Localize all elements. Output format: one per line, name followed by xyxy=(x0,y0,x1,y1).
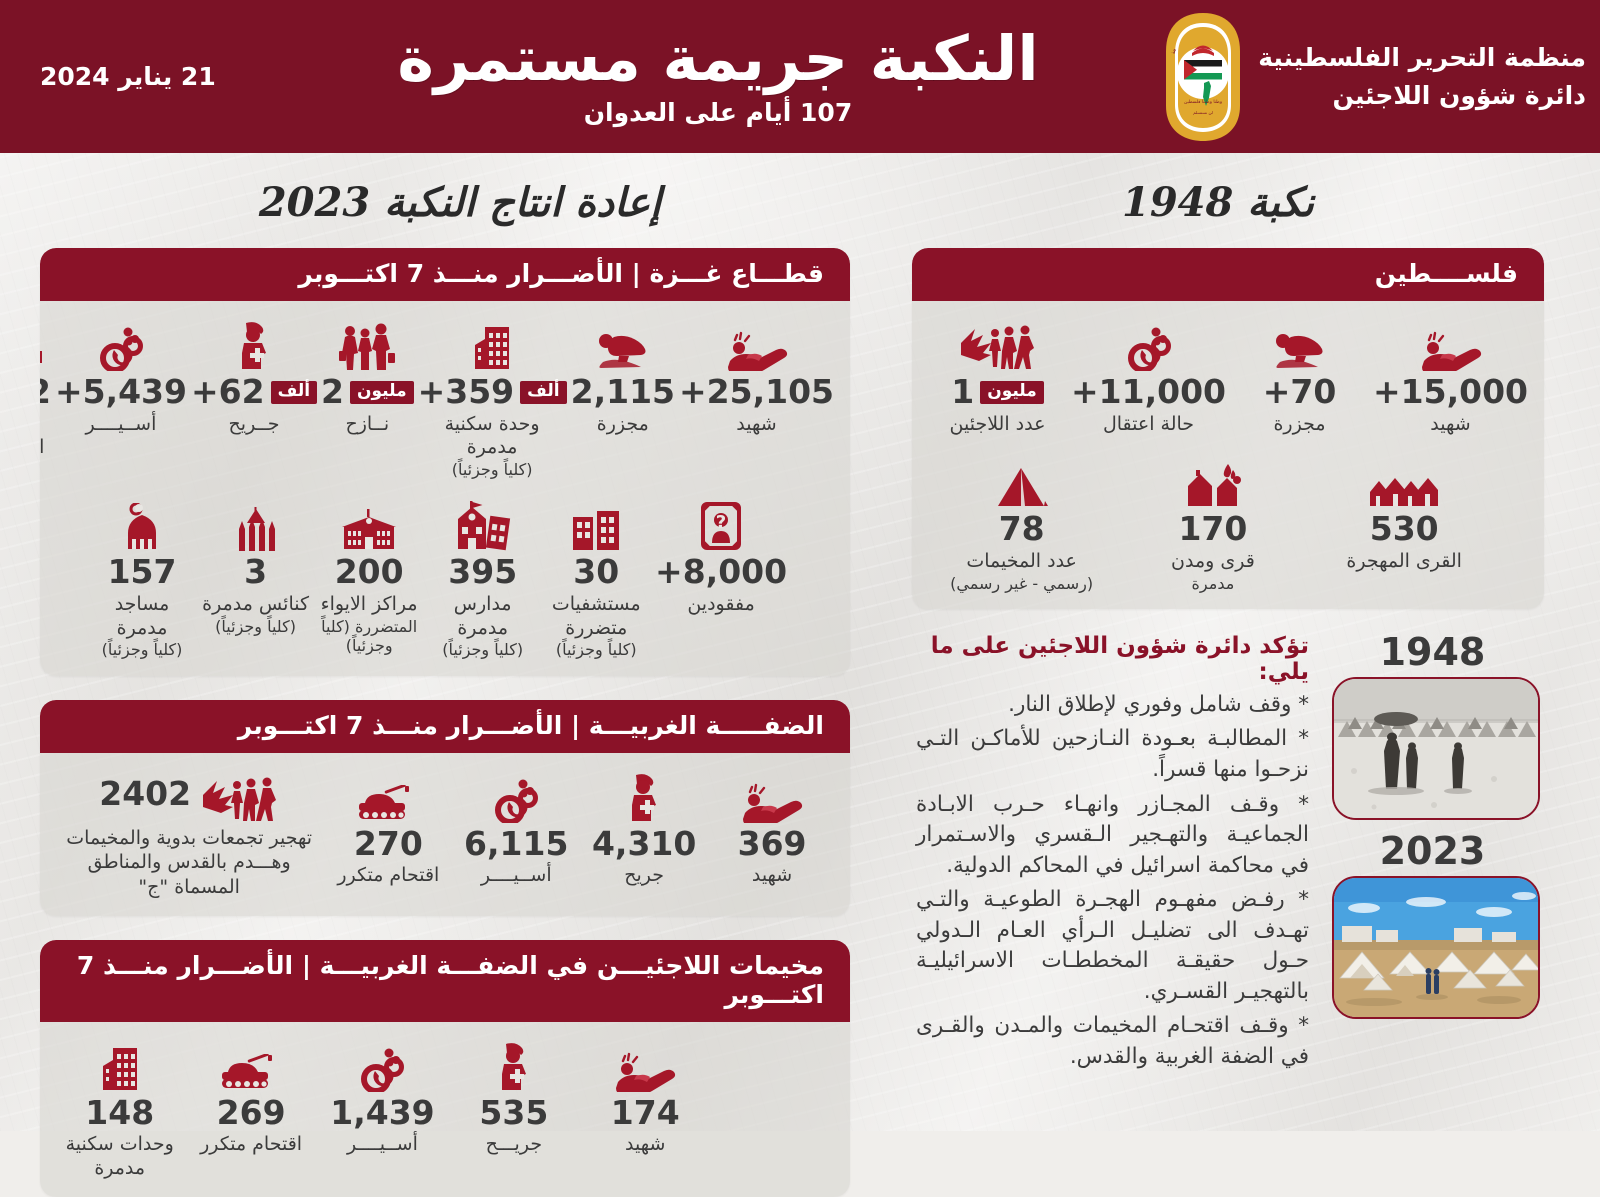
stat-sublabel: (كلياً وجزئياً) xyxy=(541,640,651,659)
unit-badge: مليون xyxy=(350,381,414,404)
ambulance-icon xyxy=(40,315,51,371)
stat-value: 200 xyxy=(314,555,424,590)
stat-value: 70+ xyxy=(1230,375,1369,410)
shelter-icon xyxy=(314,495,424,551)
photo-block-1948: 1948 xyxy=(1325,633,1540,820)
stat-value: 170 xyxy=(1119,512,1306,547)
stat-label: أســيــــر xyxy=(454,864,578,888)
stat-label: مساجد مدمرة xyxy=(87,593,197,641)
stat-sublabel: مدمرة xyxy=(1119,574,1306,593)
gaza-panel: قطـــاع غـــزة | الأضـــرار منـــذ 7 اكت… xyxy=(40,248,850,676)
stat-sublabel: (كلياً وجزئياً) xyxy=(428,640,538,659)
tank-icon xyxy=(187,1036,314,1092)
stat-value: 25,105+ xyxy=(679,375,834,410)
westbank-stat-row: 369 شهيد 4,310 جريح 6,115 أســيــــر 270… xyxy=(54,767,836,900)
stat-item: 15,000+ شهيد xyxy=(1371,315,1530,436)
stat-item: 6,115 أســيــــر xyxy=(452,767,580,888)
stat-item-displacement: 2402 تهجير تجمعات بدوية والمخيمات وهـــد… xyxy=(54,767,324,900)
westbank-panel: الضفـــــة الغربيـــة | الأضـــرار منـــ… xyxy=(40,700,850,916)
demands-block: تؤكد دائرة شؤون اللاجئين على ما يلي: * و… xyxy=(912,633,1309,1076)
page-subtitle: 107 أيام على العدوان xyxy=(216,98,1221,127)
stat-item: 270 اقتحام متكرر xyxy=(324,767,452,888)
photo-year-1948: 1948 xyxy=(1325,633,1540,671)
stat-item: 70+ مجزرة xyxy=(1228,315,1371,436)
stat-item: 5,439+ أســيــــر xyxy=(53,315,189,436)
stat-label: مجزرة xyxy=(1230,413,1369,437)
unit-badge: مليون xyxy=(980,381,1044,404)
org-name-line-2: دائرة شؤون اللاجئين xyxy=(1258,77,1586,115)
stat-label: مجزرة xyxy=(571,413,675,437)
stat-item: مليون1 عدد اللاجئين xyxy=(926,315,1069,436)
stat-label: مراكز الايواء xyxy=(314,593,424,617)
stat-label: القرى المهجرة xyxy=(1311,550,1498,574)
missing-person-icon: ? xyxy=(655,495,787,551)
stat-value: مليون1 xyxy=(928,375,1067,410)
stat-label: وحدة سكنية مدمرة xyxy=(418,413,567,461)
wounded-icon xyxy=(582,767,706,823)
stat-item: 4,310 جريح xyxy=(580,767,708,888)
stat-label: سيارة اسعاف xyxy=(40,413,51,461)
stat-item: 25,105+ شهيد xyxy=(677,315,836,436)
stat-value: مليون2 xyxy=(321,375,414,410)
stat-item: ? 8,000+ مفقودين xyxy=(653,495,789,616)
stat-item: 30 مستشفيات متضررة (كلياً وجزئياً) xyxy=(539,495,653,659)
stat-label: تهجير تجمعات بدوية والمخيمات وهـــدم بال… xyxy=(56,826,322,900)
stat-item: 78 عدد المخيمات (رسمي - غير رسمي) xyxy=(926,452,1117,593)
stat-value: 30 xyxy=(541,555,651,590)
stat-item: 395 مدارس مدمرة (كلياً وجزئياً) xyxy=(426,495,540,659)
handcuffs-icon xyxy=(1071,315,1226,371)
stat-label: كنائس مدمرة xyxy=(201,593,311,617)
stat-value: 535 xyxy=(450,1096,577,1131)
stat-item: ألف359+ وحدة سكنية مدمرة (كلياً وجزئياً) xyxy=(416,315,569,479)
displacement-icon xyxy=(201,767,279,823)
school-icon xyxy=(428,495,538,551)
stat-value: 2,115 xyxy=(571,375,675,410)
unit-badge: ألف xyxy=(520,381,566,404)
stat-value: 15,000+ xyxy=(1373,375,1528,410)
stat-value: 2402 xyxy=(99,777,191,812)
stat-value: 5,439+ xyxy=(55,375,187,410)
camps-stat-row: 174 شهيد 535 جريـــح 1,439 أســيــــر 26… xyxy=(54,1036,836,1181)
refugee-camp-1948-photo xyxy=(1334,679,1538,818)
demand-item: * وقف شامل وفوري لإطلاق النار. xyxy=(916,690,1309,721)
svg-text:?: ? xyxy=(716,512,726,533)
stat-item: 122 سيارة اسعاف مدمرة xyxy=(40,315,53,479)
stat-value: 78 xyxy=(928,512,1115,547)
wounded-icon xyxy=(450,1036,577,1092)
stat-label: عدد المخيمات xyxy=(928,550,1115,574)
right-column-heading: نكبة 1948 xyxy=(912,179,1544,226)
stat-value: ألف62+ xyxy=(191,375,317,410)
martyr-icon xyxy=(710,767,834,823)
martyr-icon xyxy=(1373,315,1528,371)
photo-block-2023: 2023 xyxy=(1325,832,1540,1019)
stat-label: اقتحام متكرر xyxy=(187,1133,314,1157)
hospital-icon xyxy=(541,495,651,551)
demand-item: * المطالبـة بعـودة النـازحين للأماكـن ال… xyxy=(916,724,1309,785)
unit-badge: ألف xyxy=(271,381,317,404)
building-icon xyxy=(56,1036,183,1092)
org-name-line-1: منظمة التحرير الفلسطينية xyxy=(1258,39,1586,77)
stat-item: 148 وحدات سكنية مدمرة xyxy=(54,1036,185,1181)
family-displaced-icon xyxy=(321,315,414,371)
stat-label: جريح xyxy=(582,864,706,888)
photo-year-2023: 2023 xyxy=(1325,832,1540,870)
stat-item: 2,115 مجزرة xyxy=(569,315,677,436)
stat-value: 1,439 xyxy=(319,1096,446,1131)
header-title-block: النكبة جريمة مستمرة 107 أيام على العدوان xyxy=(216,26,1221,126)
tank-icon xyxy=(326,767,450,823)
stat-item: 170 قرى ومدن مدمرة xyxy=(1117,452,1308,593)
photo-2023-frame xyxy=(1332,876,1540,1019)
stat-label: شهيد xyxy=(582,1133,709,1157)
palestine-panel: فلســــطين 15,000+ شهيد 70+ مجزرة 11,000… xyxy=(912,248,1544,609)
stat-item: مليون2 نــازح xyxy=(319,315,416,436)
stat-item: 3 كنائس مدمرة (كلياً وجزئياً) xyxy=(199,495,313,636)
stat-value: 530 xyxy=(1311,512,1498,547)
stat-value: 395 xyxy=(428,555,538,590)
church-icon xyxy=(201,495,311,551)
stat-label: أســيــــر xyxy=(55,413,187,437)
massacre-icon xyxy=(571,315,675,371)
westbank-panel-title: الضفـــــة الغربيـــة | الأضـــرار منـــ… xyxy=(40,700,850,753)
stat-item: 157 مساجد مدمرة (كلياً وجزئياً) xyxy=(85,495,199,659)
demand-item: * رفـض مفهـوم الهجـرة الطوعيـة والتـي ته… xyxy=(916,885,1309,1007)
stat-item: ألف62+ جــريح xyxy=(189,315,319,436)
stat-item: 200 مراكز الايواء المتضررة (كلياً وجزئيا… xyxy=(312,495,426,655)
stat-value: 4,310 xyxy=(582,827,706,862)
gaza-stat-row-1: 25,105+ شهيد 2,115 مجزرة ألف359+ وحدة سك… xyxy=(54,315,836,479)
camps-panel: مخيمات اللاجئيـــن في الضفـــة الغربيـــ… xyxy=(40,940,850,1197)
palestine-stat-row-2: 530 القرى المهجرة 170 قرى ومدن مدمرة 78 … xyxy=(926,452,1530,593)
stat-item: 530 القرى المهجرة xyxy=(1309,452,1500,573)
stat-label: جريـــح xyxy=(450,1133,577,1157)
stat-value: 8,000+ xyxy=(655,555,787,590)
massacre-icon xyxy=(1230,315,1369,371)
palestine-panel-title: فلســــطين xyxy=(912,248,1544,301)
mosque-icon xyxy=(87,495,197,551)
stat-sublabel: (كلياً وجزئياً) xyxy=(418,460,567,479)
demand-item: * وقـف المجـازر وانهـاء حـرب الابـادة ال… xyxy=(916,790,1309,882)
stat-label: أســيــــر xyxy=(319,1133,446,1157)
building-icon xyxy=(418,315,567,371)
stat-item: 369 شهيد xyxy=(708,767,836,888)
stat-value: 174 xyxy=(582,1096,709,1131)
wounded-icon xyxy=(191,315,317,371)
stat-label: مستشفيات متضررة xyxy=(541,593,651,641)
stat-label: شهيد xyxy=(1373,413,1528,437)
stat-label: عدد اللاجئين xyxy=(928,413,1067,437)
stat-value: 6,115 xyxy=(454,827,578,862)
martyr-icon xyxy=(582,1036,709,1092)
stat-sublabel: (كلياً وجزئياً) xyxy=(201,617,311,636)
refugee-camp-2023-photo xyxy=(1334,878,1538,1017)
stat-value: 157 xyxy=(87,555,197,590)
palestine-stat-row-1: 15,000+ شهيد 70+ مجزرة 11,000+ حالة اعتق… xyxy=(926,315,1530,436)
stat-label: حالة اعتقال xyxy=(1071,413,1226,437)
stat-value: 11,000+ xyxy=(1071,375,1226,410)
page-header: منظمة التحرير الفلسطينية دائرة شؤون اللا… xyxy=(0,0,1600,153)
stat-label: جــريح xyxy=(191,413,317,437)
camps-panel-title: مخيمات اللاجئيـــن في الضفـــة الغربيـــ… xyxy=(40,940,850,1022)
stat-label: مفقودين xyxy=(655,593,787,617)
stat-label: شهيد xyxy=(710,864,834,888)
stat-label: وحدات سكنية مدمرة xyxy=(56,1133,183,1181)
stat-label: نــازح xyxy=(321,413,414,437)
stat-label: اقتحام متكرر xyxy=(326,864,450,888)
stat-item: 535 جريـــح xyxy=(448,1036,579,1157)
displacement-icon xyxy=(928,315,1067,371)
left-column-heading: إعادة انتاج النكبة 2023 xyxy=(40,179,850,226)
burning-house-icon xyxy=(1119,452,1306,508)
stat-item: 174 شهيد xyxy=(580,1036,711,1157)
stat-item: 1,439 أســيــــر xyxy=(317,1036,448,1157)
stat-value: 3 xyxy=(201,555,311,590)
stat-value: ألف359+ xyxy=(418,375,567,410)
stat-item: 269 اقتحام متكرر xyxy=(185,1036,316,1157)
martyr-icon xyxy=(679,315,834,371)
photo-1948-frame xyxy=(1332,677,1540,820)
stat-label: شهيد xyxy=(679,413,834,437)
handcuffs-icon xyxy=(55,315,187,371)
organization-block: منظمة التحرير الفلسطينية دائرة شؤون اللا… xyxy=(1160,11,1586,143)
demands-title: تؤكد دائرة شؤون اللاجئين على ما يلي: xyxy=(916,633,1309,685)
stat-sublabel: مدمرة xyxy=(40,460,51,479)
stat-label: قرى ومدن xyxy=(1119,550,1306,574)
handcuffs-icon xyxy=(319,1036,446,1092)
stat-value: 269 xyxy=(187,1096,314,1131)
stat-item: 11,000+ حالة اعتقال xyxy=(1069,315,1228,436)
photos-column: 1948 xyxy=(1325,633,1540,1076)
stat-sublabel: (كلياً وجزئياً) xyxy=(87,640,197,659)
gaza-stat-row-2: ? 8,000+ مفقودين 30 مستشفيات متضررة (كلي… xyxy=(54,495,836,659)
gaza-panel-title: قطـــاع غـــزة | الأضـــرار منـــذ 7 اكت… xyxy=(40,248,850,301)
stat-value: 122 xyxy=(40,375,51,410)
stat-value: 270 xyxy=(326,827,450,862)
page-title: النكبة جريمة مستمرة xyxy=(216,26,1221,91)
tent-icon xyxy=(928,452,1115,508)
stat-value: 148 xyxy=(56,1096,183,1131)
handcuffs-icon xyxy=(454,767,578,823)
demand-item: * وقـف اقتحـام المخيمات والمـدن والقـرى … xyxy=(916,1011,1309,1072)
villages-icon xyxy=(1311,452,1498,508)
stat-label: مدارس مدمرة xyxy=(428,593,538,641)
stat-sublabel: (رسمي - غير رسمي) xyxy=(928,574,1115,593)
publication-date: 21 يناير 2024 xyxy=(40,62,216,91)
stat-sublabel: المتضررة (كلياً وجزئياً) xyxy=(314,617,424,655)
stat-value: 369 xyxy=(710,827,834,862)
